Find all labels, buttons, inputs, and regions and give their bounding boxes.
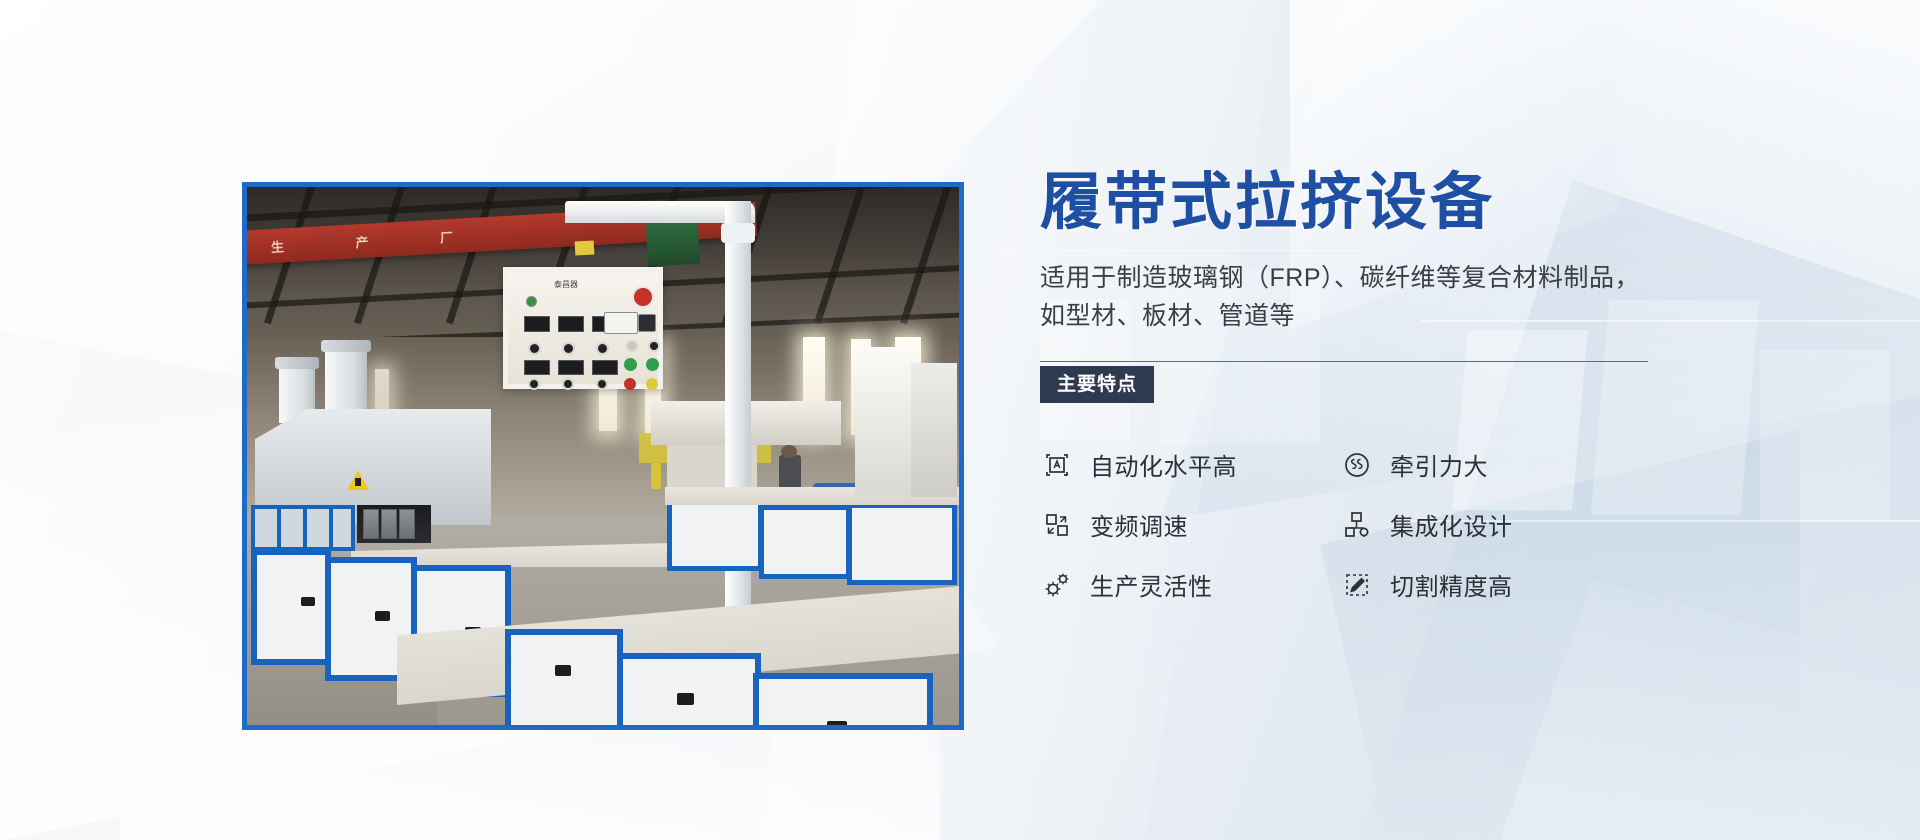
crane-tag (575, 240, 595, 255)
feature-label: 集成化设计 (1390, 507, 1513, 542)
page-title: 履带式拉挤设备 (1040, 170, 1680, 237)
feature-label: 生产灵活性 (1090, 567, 1213, 602)
feature-item-flexibility[interactable]: 生产灵活性 (1040, 555, 1340, 615)
feature-item-integration[interactable]: 集成化设计 (1340, 495, 1640, 555)
feature-label: 切割精度高 (1390, 567, 1513, 602)
precision-cut-icon (1340, 568, 1374, 602)
integration-icon (1340, 508, 1374, 542)
product-description: 适用于制造玻璃钢（FRP）、碳纤维等复合材料制品，如型材、板材、管道等 (1040, 259, 1648, 335)
feature-item-frequency[interactable]: 变频调速 (1040, 495, 1340, 555)
feature-row: 自动化水平高 牵引力大 (1040, 435, 1680, 495)
panel-brand-text: 泰昌器 (554, 279, 578, 290)
status-badge: 主要特点 (1040, 366, 1154, 403)
divider (1040, 361, 1648, 362)
feature-row: 生产灵活性 切割精度高 (1040, 555, 1680, 615)
traction-icon (1340, 448, 1374, 482)
gears-icon (1040, 568, 1074, 602)
frequency-icon (1040, 508, 1074, 542)
photo-frame-joint (721, 223, 755, 243)
feature-label: 变频调速 (1090, 507, 1188, 542)
product-photo-card: 生 产 厂 (242, 182, 964, 730)
product-banner: 生 产 厂 (0, 0, 1920, 840)
banner-content: 履带式拉挤设备 适用于制造玻璃钢（FRP）、碳纤维等复合材料制品，如型材、板材、… (1040, 170, 1680, 615)
feature-item-automation[interactable]: 自动化水平高 (1040, 435, 1340, 495)
feature-item-traction[interactable]: 牵引力大 (1340, 435, 1640, 495)
automation-icon (1040, 448, 1074, 482)
bg-ghost-shape (1760, 350, 1890, 520)
feature-row: 变频调速 集成化设计 (1040, 495, 1680, 555)
feature-item-precision[interactable]: 切割精度高 (1340, 555, 1640, 615)
photo-control-panel: 泰昌器 (503, 267, 663, 389)
product-photo: 生 产 厂 (247, 187, 959, 725)
crane-text: 生 产 厂 (270, 225, 487, 256)
photo-crane-hoist (646, 222, 700, 267)
bg-facet-9 (1500, 580, 1920, 840)
feature-label: 自动化水平高 (1090, 447, 1237, 482)
feature-list: 自动化水平高 牵引力大 (1040, 435, 1680, 615)
feature-label: 牵引力大 (1390, 447, 1488, 482)
section-divider-row: 主要特点 (1040, 361, 1680, 401)
